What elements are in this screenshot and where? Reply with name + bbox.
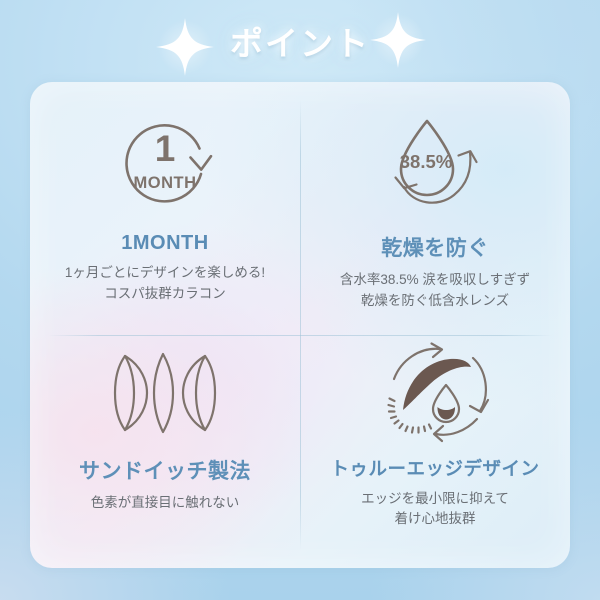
feature-description: 1ヶ月ごとにデザインを楽しめる! コスパ抜群カラコン (65, 263, 265, 305)
feature-title: トゥルーエッジデザイン (330, 455, 539, 481)
feature-cell-true-edge-design: トゥルーエッジデザイン エッジを最小限に抑えて 着け心地抜群 (300, 325, 570, 568)
features-grid: 1 MONTH 1MONTH 1ヶ月ごとにデザインを楽しめる! コスパ抜群カラコ… (30, 82, 570, 568)
feature-desc-line2: 着け心地抜群 (361, 509, 509, 529)
feature-description: エッジを最小限に抑えて 着け心地抜群 (361, 489, 509, 530)
feature-desc-line2: 乾燥を防ぐ低含水レンズ (340, 291, 530, 312)
feature-cell-sandwich-construction: サンドイッチ製法 色素が直接目に触れない (30, 325, 300, 568)
eye-teardrop-cycle-icon (376, 343, 494, 443)
feature-desc-line1: 含水率38.5% 涙を吸収しすぎず (340, 270, 530, 291)
circular-arrow-1month-icon: 1 MONTH (111, 108, 219, 220)
svg-text:1: 1 (155, 128, 176, 169)
feature-description: 含水率38.5% 涙を吸収しすぎず 乾燥を防ぐ低含水レンズ (340, 270, 530, 312)
features-card: 1 MONTH 1MONTH 1ヶ月ごとにデザインを楽しめる! コスパ抜群カラコ… (30, 82, 570, 568)
feature-title: 1MONTH (121, 232, 208, 255)
water-drop-icon: 38.5% (380, 108, 490, 220)
sparkle-icon-left (152, 14, 218, 80)
sparkle-icon-right (366, 8, 430, 72)
feature-cell-one-month: 1 MONTH 1MONTH 1ヶ月ごとにデザインを楽しめる! コスパ抜群カラコ… (30, 82, 300, 325)
feature-title: サンドイッチ製法 (79, 455, 251, 485)
lens-layers-icon (109, 343, 221, 443)
svg-text:38.5%: 38.5% (400, 151, 452, 172)
feature-title: 乾燥を防ぐ (381, 232, 489, 262)
svg-text:MONTH: MONTH (134, 174, 197, 192)
page-title: ポイント (230, 17, 370, 65)
header: ポイント (0, 0, 600, 82)
feature-desc-line2: コスパ抜群カラコン (65, 284, 265, 305)
feature-cell-prevent-dryness: 38.5% 乾燥を防ぐ 含水率38.5% 涙を吸収しすぎず 乾燥を防ぐ低含水レン… (300, 82, 570, 325)
feature-desc-line1: エッジを最小限に抑えて (361, 489, 509, 509)
feature-desc-line1: 色素が直接目に触れない (91, 493, 240, 514)
feature-description: 色素が直接目に触れない (91, 493, 240, 514)
infographic-root: ポイント 1 MONTH 1MONTH 1ヶ月ごとにデザインを楽しめる! (0, 0, 600, 600)
feature-desc-line1: 1ヶ月ごとにデザインを楽しめる! (65, 263, 265, 284)
